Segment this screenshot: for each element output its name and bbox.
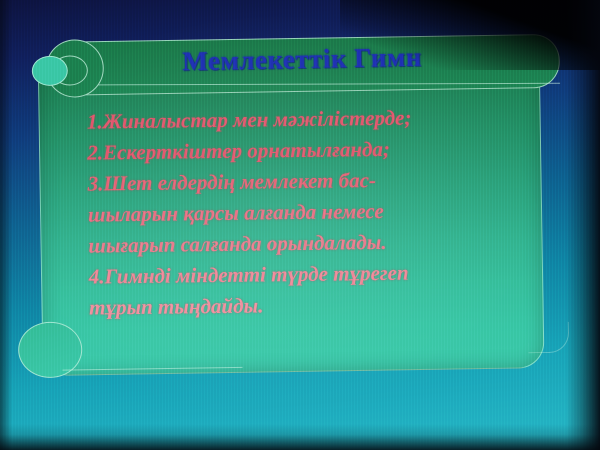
projected-slide-photo: Мемлекеттік Гимн 1.Жиналыстар мен мәжілі…	[0, 0, 600, 450]
body-line: шығарып салғанда орындалады.	[88, 225, 508, 261]
body-line: 4.Гимнді міндетті түрде тұрегеп	[89, 256, 509, 292]
body-line: шыларын қарсы алғанда немесе	[88, 194, 508, 230]
slide-body: 1.Жиналыстар мен мәжілістерде; 2.Ескертк…	[87, 101, 510, 323]
photo-vignette-left	[0, 0, 12, 450]
photo-vignette-right	[566, 0, 600, 450]
photo-vignette-top-right	[340, 0, 600, 70]
body-line: 3.Шет елдердің мемлекет бас-	[87, 163, 507, 199]
photo-vignette-bottom	[0, 424, 600, 450]
body-line: 2.Ескерткіштер орнатылғанда;	[87, 132, 507, 168]
body-line: 1.Жиналыстар мен мәжілістерде;	[87, 101, 507, 137]
body-line: тұрып тыңдайды.	[89, 287, 509, 323]
